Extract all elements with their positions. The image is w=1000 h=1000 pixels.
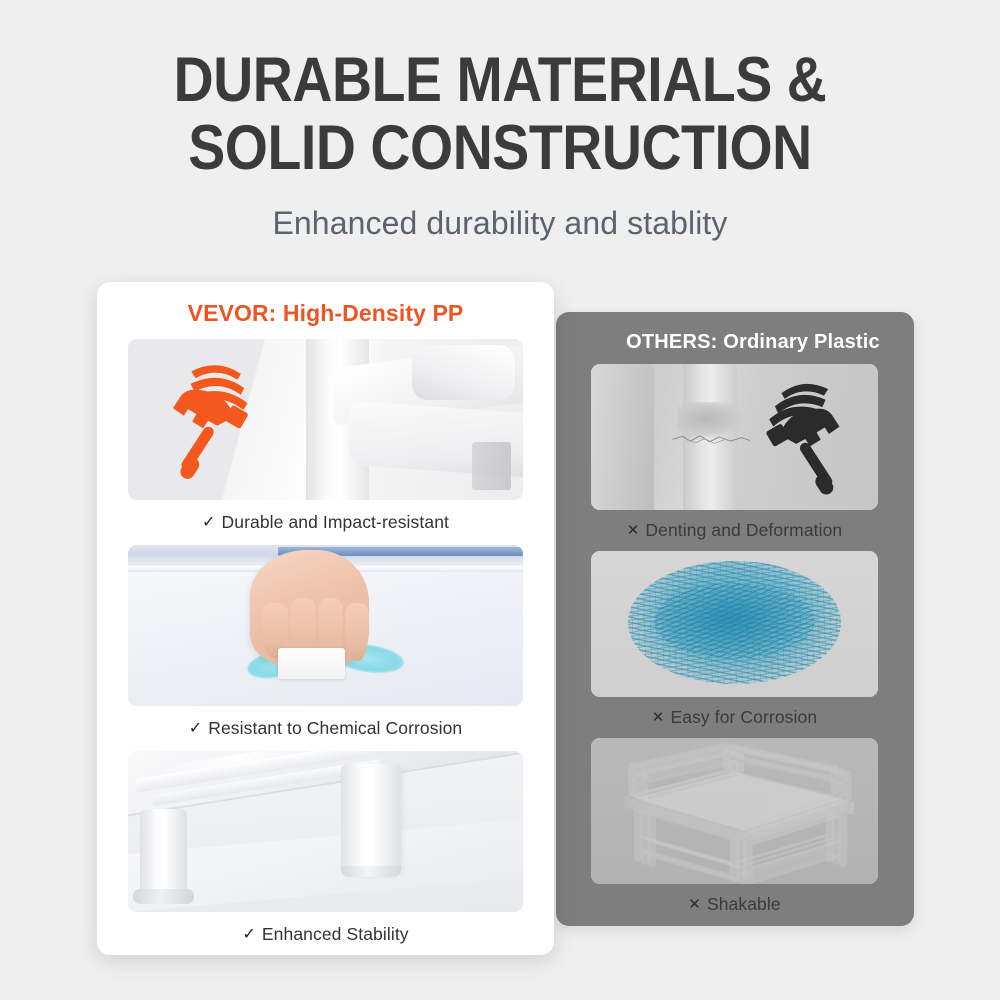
cart-legs-illustration bbox=[128, 751, 523, 912]
cart-ghost bbox=[591, 738, 878, 884]
comparison-section: OTHERS: Ordinary Plastic bbox=[0, 0, 1000, 1000]
vevor-item-impact: ✓Durable and Impact-resistant bbox=[128, 339, 523, 533]
cart-leg-center bbox=[341, 764, 400, 873]
check-icon: ✓ bbox=[242, 924, 256, 944]
others-label-corrosion: Easy for Corrosion bbox=[670, 707, 817, 727]
vevor-label-impact: Durable and Impact-resistant bbox=[222, 512, 450, 532]
cart-shadow bbox=[472, 442, 512, 490]
vevor-label-stability: Enhanced Stability bbox=[262, 924, 409, 944]
others-image-shakable bbox=[591, 738, 878, 884]
vevor-caption-corrosion: ✓Resistant to Chemical Corrosion bbox=[128, 718, 523, 739]
vevor-panel-title: VEVOR: High-Density PP bbox=[97, 300, 554, 327]
vevor-image-corrosion bbox=[128, 545, 523, 706]
vevor-item-list: ✓Durable and Impact-resistant bbox=[97, 339, 554, 945]
hammer-icon bbox=[152, 358, 263, 484]
cross-icon: ✕ bbox=[627, 521, 640, 539]
corrosion-stain-core bbox=[654, 583, 815, 659]
vevor-image-stability bbox=[128, 751, 523, 912]
crack-line bbox=[671, 430, 751, 448]
others-item-denting: ✕Denting and Deformation bbox=[591, 364, 878, 541]
others-item-shakable: ✕Shakable bbox=[591, 738, 878, 915]
others-label-denting: Denting and Deformation bbox=[645, 520, 842, 540]
others-image-corrosion bbox=[591, 551, 878, 697]
shaking-cart-illustration bbox=[591, 738, 878, 884]
cart-leg-left bbox=[140, 809, 187, 902]
others-caption-denting: ✕Denting and Deformation bbox=[591, 520, 878, 541]
vevor-caption-impact: ✓Durable and Impact-resistant bbox=[128, 512, 523, 533]
others-caption-corrosion: ✕Easy for Corrosion bbox=[591, 707, 878, 728]
others-caption-shakable: ✕Shakable bbox=[591, 894, 878, 915]
hand-wiping-illustration bbox=[128, 545, 523, 706]
vevor-image-impact bbox=[128, 339, 523, 500]
cart-joint-illustration bbox=[128, 339, 523, 500]
hammer-icon bbox=[749, 376, 870, 499]
others-panel-title: OTHERS: Ordinary Plastic bbox=[556, 331, 914, 354]
check-icon: ✓ bbox=[202, 512, 216, 532]
vevor-caption-stability: ✓Enhanced Stability bbox=[128, 924, 523, 945]
finger bbox=[345, 603, 369, 661]
cross-icon: ✕ bbox=[652, 708, 665, 726]
sponge bbox=[278, 648, 345, 679]
others-item-corrosion: ✕Easy for Corrosion bbox=[591, 551, 878, 728]
vevor-item-stability: ✓Enhanced Stability bbox=[128, 751, 523, 945]
vevor-label-corrosion: Resistant to Chemical Corrosion bbox=[208, 718, 462, 738]
cart-joint-cap bbox=[412, 345, 515, 400]
others-item-list: ✕Denting and Deformation ✕Easy for Corro… bbox=[556, 364, 914, 915]
check-icon: ✓ bbox=[189, 718, 203, 738]
cross-icon: ✕ bbox=[688, 895, 701, 913]
corrosion-illustration bbox=[591, 551, 878, 697]
dented-pole-illustration bbox=[591, 364, 878, 510]
others-label-shakable: Shakable bbox=[707, 894, 781, 914]
vevor-item-corrosion: ✓Resistant to Chemical Corrosion bbox=[128, 545, 523, 739]
others-image-denting bbox=[591, 364, 878, 510]
pole-left bbox=[591, 364, 654, 510]
others-panel: OTHERS: Ordinary Plastic bbox=[556, 312, 914, 926]
vevor-panel: VEVOR: High-Density PP bbox=[97, 282, 554, 955]
